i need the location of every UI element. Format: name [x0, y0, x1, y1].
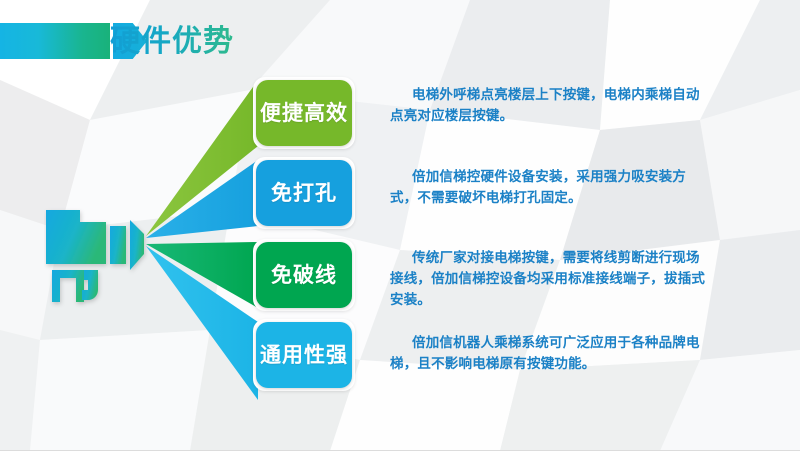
card-4-label: 通用性强: [260, 345, 348, 366]
card-1[interactable]: 便捷高效: [256, 80, 352, 146]
card-2[interactable]: 免打孔: [256, 160, 352, 226]
header-band: [0, 23, 110, 59]
card-3[interactable]: 免破线: [256, 242, 352, 308]
card-4[interactable]: 通用性强: [256, 322, 352, 388]
projector-icon: [44, 192, 156, 308]
card-2-label: 免打孔: [271, 183, 337, 204]
card-3-description: 传统厂家对接电梯按键，需要将线剪断进行现场接线，倍加信梯控设备均采用标准接线端子…: [390, 248, 710, 311]
card-3-label: 免破线: [271, 265, 337, 286]
page-title: 硬件优势: [110, 22, 234, 62]
card-1-label: 便捷高效: [260, 103, 348, 124]
card-1-description: 电梯外呼梯点亮楼层上下按键，电梯内乘梯自动点亮对应楼层按键。: [390, 85, 710, 127]
card-4-description: 倍加信机器人乘梯系统可广泛应用于各种品牌电梯，且不影响电梯原有按键功能。: [390, 333, 710, 375]
card-2-description: 倍加信梯控硬件设备安装，采用强力吸安装方式，不需要破坏电梯打孔固定。: [390, 167, 710, 209]
slide-canvas: 便捷高效 电梯外呼梯点亮楼层上下按键，电梯内乘梯自动点亮对应楼层按键。 免打孔 …: [0, 0, 800, 451]
